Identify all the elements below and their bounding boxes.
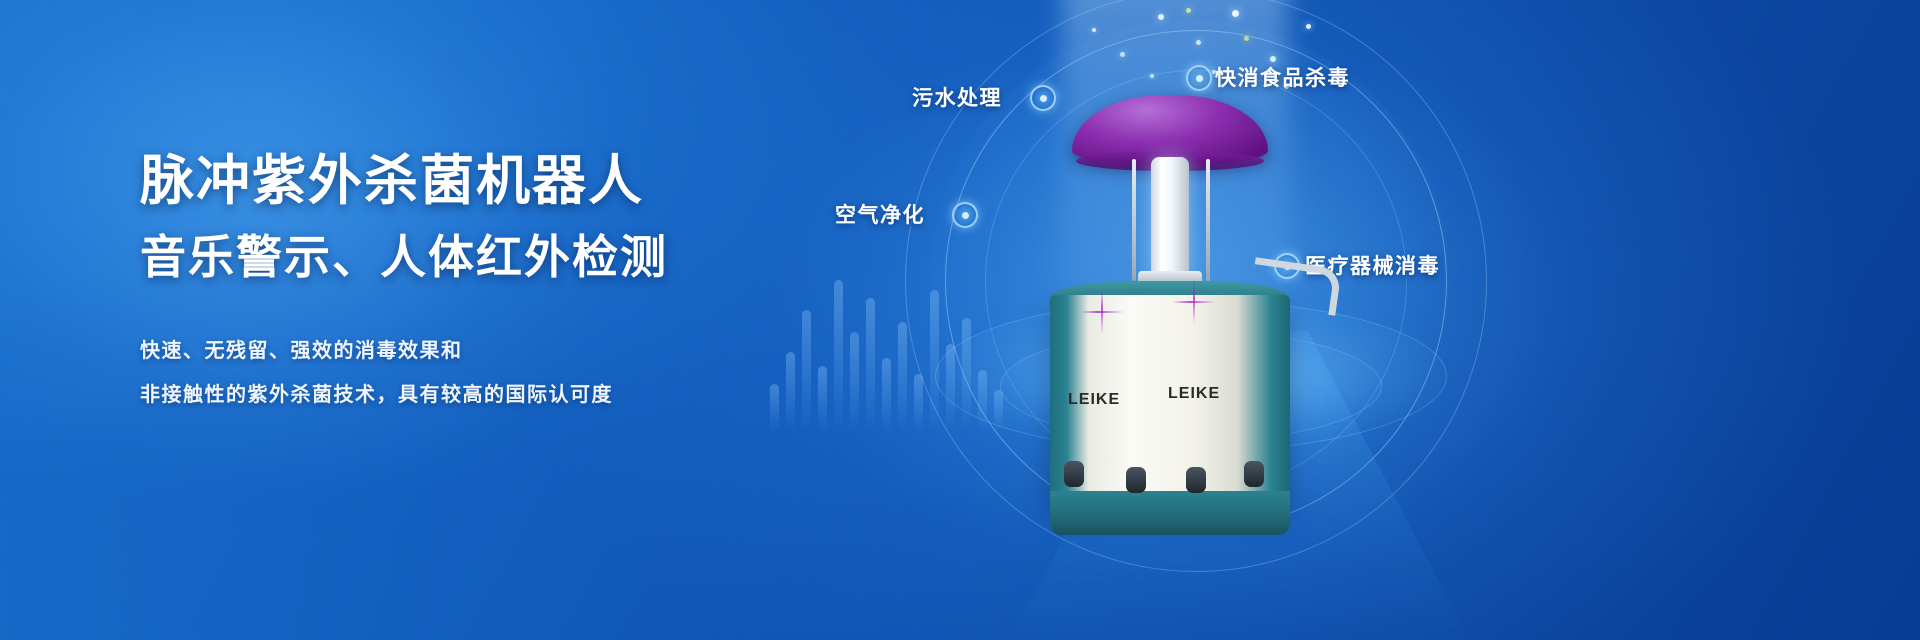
uv-lamp-rod-left — [1132, 159, 1136, 281]
description-line-2: 非接触性的紫外杀菌技术，具有较高的国际认可度 — [140, 373, 900, 417]
page-title: 脉冲紫外杀菌机器人 — [140, 150, 900, 214]
sparkle-star-icon-left — [1080, 290, 1124, 334]
hero-banner: 脉冲紫外杀菌机器人 音乐警示、人体红外检测 快速、无残留、强效的消毒效果和 非接… — [0, 0, 1920, 640]
feature-label-wastewater: 污水处理 — [912, 82, 1002, 112]
copy-block: 脉冲紫外杀菌机器人 音乐警示、人体红外检测 快速、无残留、强效的消毒效果和 非接… — [140, 150, 900, 417]
feature-label-air-purification: 空气净化 — [835, 199, 925, 229]
uv-lamp-rod-right — [1206, 159, 1210, 281]
caster-wheel — [1186, 467, 1206, 493]
sparkle-star-icon-right — [1172, 280, 1216, 324]
uv-lamp-tube — [1151, 157, 1189, 277]
caster-wheel — [1244, 461, 1264, 487]
description-line-1: 快速、无残留、强效的消毒效果和 — [140, 329, 900, 373]
sparkle-particle — [1306, 24, 1311, 29]
sparkle-particle — [1196, 40, 1201, 45]
cabinet-bottom — [1050, 491, 1290, 535]
brand-label-left: LEIKE — [1068, 391, 1120, 409]
brand-label-right: LEIKE — [1168, 385, 1220, 403]
sparkle-particle — [1092, 28, 1096, 32]
sparkle-particle — [1186, 8, 1191, 13]
feature-node-air-purification-icon — [952, 202, 978, 228]
sparkle-particle — [1158, 14, 1164, 20]
sparkle-particle — [1244, 36, 1249, 41]
feature-label-fmcg-food: 快消食品杀毒 — [1215, 62, 1350, 92]
sparkle-particle — [1120, 52, 1125, 57]
product-image-uv-robot: LEIKE LEIKE — [1020, 95, 1320, 515]
feature-node-fmcg-food-icon — [1186, 65, 1212, 91]
page-subtitle: 音乐警示、人体红外检测 — [140, 230, 900, 285]
sparkle-particle — [1150, 74, 1154, 78]
caster-wheel — [1126, 467, 1146, 493]
caster-wheel — [1064, 461, 1084, 487]
sparkle-particle — [1232, 10, 1239, 17]
